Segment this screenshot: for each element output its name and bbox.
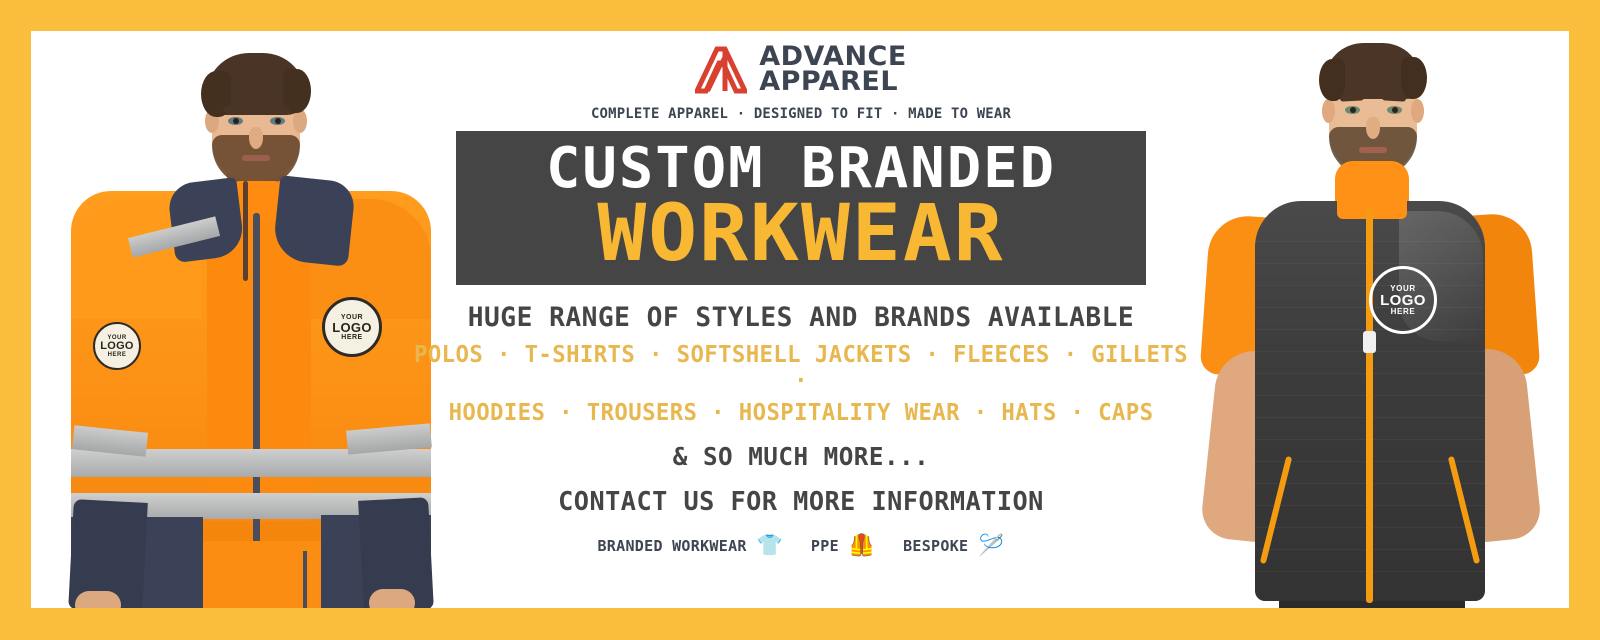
model-left-hand-left xyxy=(75,591,121,608)
service-icon-row: BRANDED WORKWEAR 👕 PPE 🦺 BESPOKE 🪡 xyxy=(401,535,1201,556)
model-photo-right: YOUR LOGO HERE xyxy=(1169,31,1569,608)
badge-line-2: LOGO xyxy=(1380,293,1426,308)
model-left-pupil-left xyxy=(233,118,239,124)
badge-line-2: LOGO xyxy=(100,341,134,352)
model-right-hair-side-right xyxy=(1401,57,1427,99)
gilet-zipper-pull xyxy=(1363,331,1376,353)
model-right-eyebrow-right xyxy=(1382,94,1406,101)
model-right-ear-right xyxy=(1411,99,1424,123)
sewing-needle-icon: 🪡 xyxy=(978,535,1004,556)
badge-line-2: LOGO xyxy=(332,321,371,334)
badge-line-3: HERE xyxy=(341,334,362,341)
headline-block: CUSTOM BRANDED WORKWEAR xyxy=(456,131,1146,285)
safety-vest-icon: 🦺 xyxy=(849,535,875,556)
badge-line-3: HERE xyxy=(108,352,127,358)
hi-vis-inner-zipper xyxy=(243,181,248,281)
brand-name: ADVANCE APPAREL xyxy=(759,45,907,95)
service-label-bespoke: BESPOKE xyxy=(903,537,968,555)
model-left-pupil-right xyxy=(275,118,281,124)
brand-tagline: COMPLETE APPAREL · DESIGNED TO FIT · MAD… xyxy=(417,106,1185,122)
service-label-branded-workwear: BRANDED WORKWEAR xyxy=(597,537,746,555)
polo-shirt-icon: 👕 xyxy=(757,535,783,556)
gilet-main-zipper xyxy=(1366,207,1373,603)
your-logo-here-badge-chest: YOUR LOGO HERE xyxy=(322,297,382,357)
promotional-banner: YOUR LOGO HERE YOUR LOGO HERE xyxy=(0,0,1600,640)
model-left-nose xyxy=(249,127,263,149)
sub-headline: HUGE RANGE OF STYLES AND BRANDS AVAILABL… xyxy=(413,302,1189,333)
model-right-nose xyxy=(1366,117,1380,139)
contact-call-to-action: CONTACT US FOR MORE INFORMATION xyxy=(413,487,1189,517)
brand-logo: ADVANCE APPAREL xyxy=(401,31,1201,101)
model-right-eyebrow-left xyxy=(1340,94,1364,101)
product-list-line-1: POLOS · T-SHIRTS · SOFTSHELL JACKETS · F… xyxy=(413,342,1189,394)
advance-apparel-a-mark-icon xyxy=(695,46,747,94)
model-right-pupil-right xyxy=(1392,107,1398,113)
headline-line-2: WORKWEAR xyxy=(442,195,1160,273)
model-right-ear-left xyxy=(1322,99,1335,123)
product-list-line-2: HOODIES · TROUSERS · HOSPITALITY WEAR · … xyxy=(413,400,1189,426)
service-label-ppe: PPE xyxy=(811,537,839,555)
brand-name-line-2: APPAREL xyxy=(759,70,898,95)
your-logo-here-badge-sleeve: YOUR LOGO HERE xyxy=(93,322,141,370)
banner-panel: YOUR LOGO HERE YOUR LOGO HERE xyxy=(31,31,1569,608)
model-photo-left: YOUR LOGO HERE YOUR LOGO HERE xyxy=(31,31,461,608)
banner-content: ADVANCE APPAREL COMPLETE APPAREL · DESIG… xyxy=(401,31,1201,608)
model-left-mouth xyxy=(242,155,270,161)
badge-line-3: HERE xyxy=(1391,308,1416,316)
so-much-more-text: & SO MUCH MORE... xyxy=(413,442,1189,471)
model-right-pupil-left xyxy=(1350,107,1356,113)
your-logo-here-badge-gilet: YOUR LOGO HERE xyxy=(1369,266,1437,334)
hi-vis-trousers-zip xyxy=(303,551,307,608)
hi-vis-trousers xyxy=(203,541,331,608)
model-right-mouth xyxy=(1359,147,1387,153)
